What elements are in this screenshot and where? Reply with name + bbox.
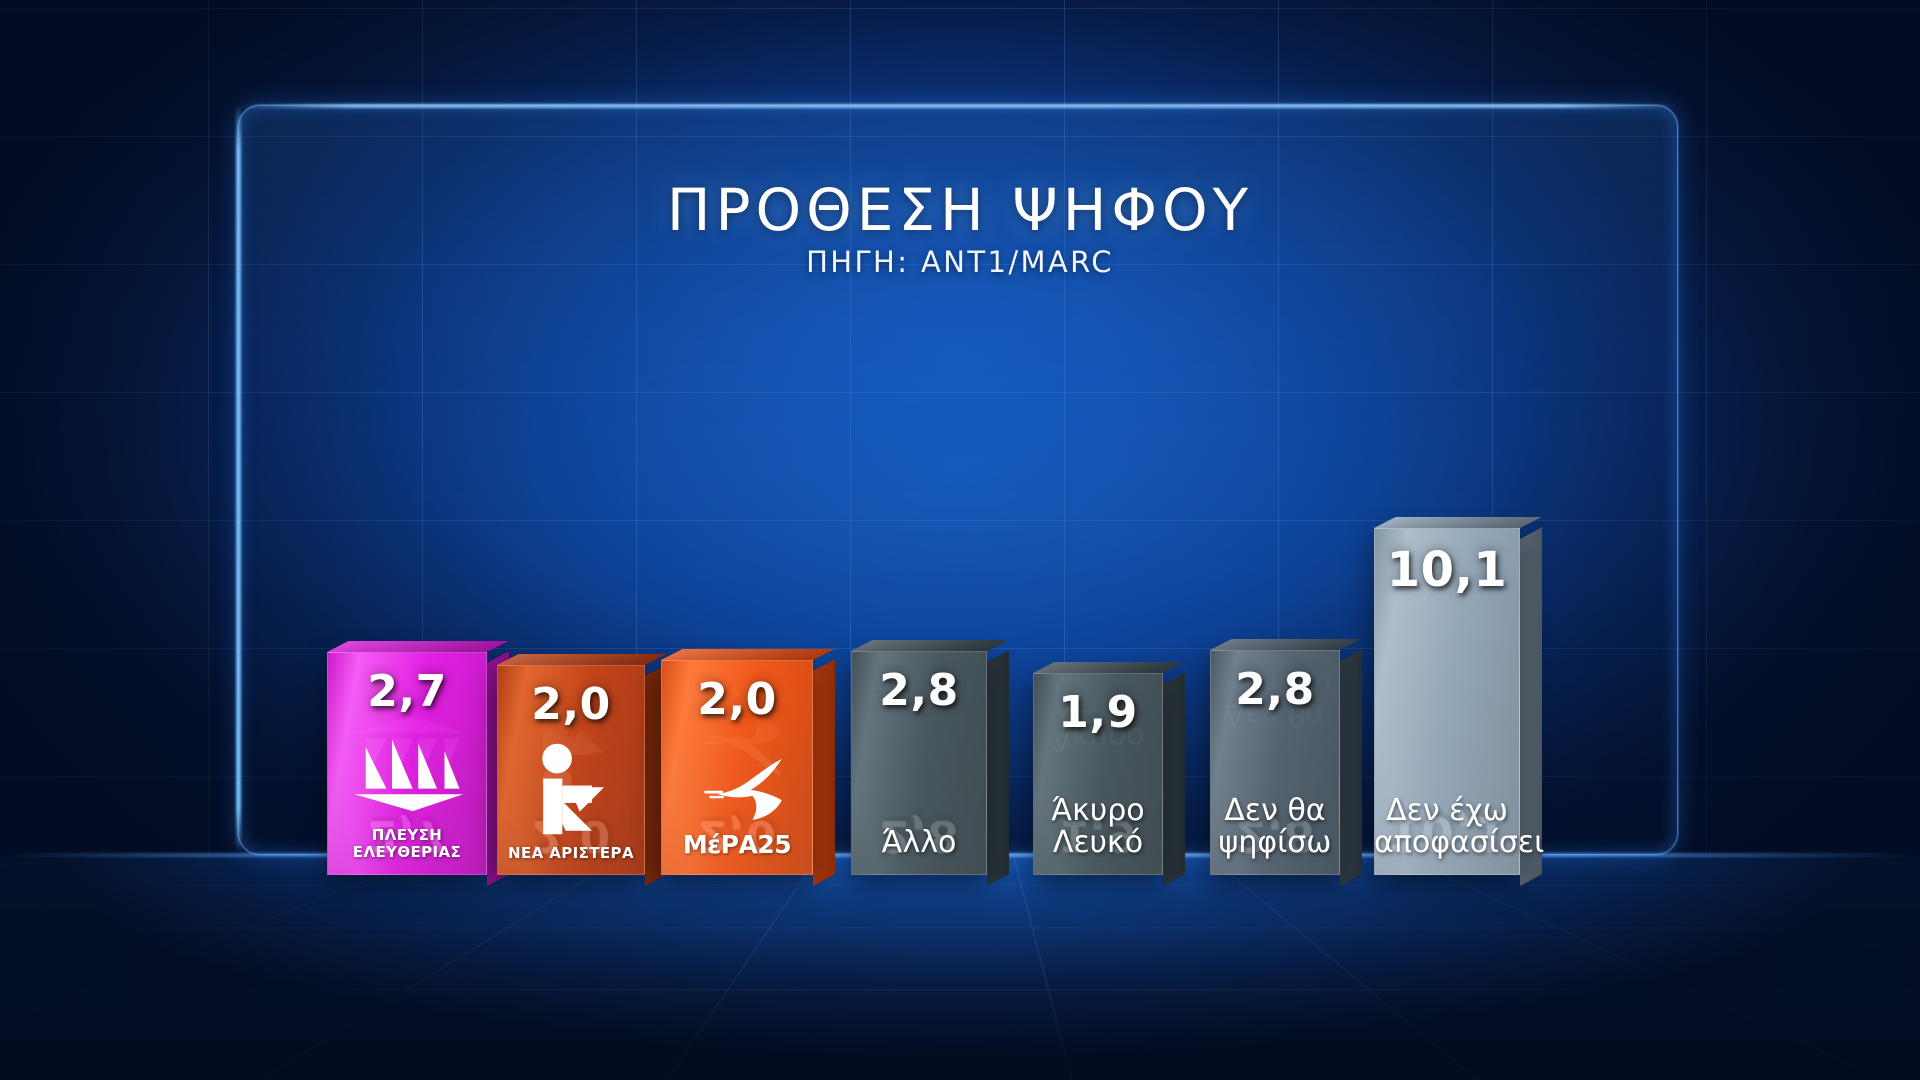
bar-body: 10,1Δεν έχωαποφασίσει [1374, 528, 1520, 875]
bar-top-face [1210, 639, 1362, 650]
bar-allo: 2,8Άλλο [851, 651, 987, 875]
bar-body: 2,8Δεν θαψηφίσω [1210, 650, 1340, 875]
bar-party-caption: ΝΕΑ ΑΡΙΣΤΕΡΑ [497, 845, 645, 862]
bar-plefsi-eleftherias: 2,7 ΠΛΕΥΣΗΕΛΕΥΘΕΡΙΑΣ [327, 652, 487, 875]
bar-body: 1,9ΆκυροΛευκό [1033, 673, 1163, 875]
bar-top-face [1374, 875, 1542, 886]
bar-top-face [661, 649, 835, 660]
bar-body: 2,0 ΜέΡΑ25 [661, 660, 813, 875]
bar-value-label: 1,9 [1033, 687, 1163, 738]
bar-side-face [813, 659, 835, 886]
running-figure-icon [531, 743, 611, 835]
bar-party-caption: ΠΛΕΥΣΗΕΛΕΥΘΕΡΙΑΣ [327, 827, 487, 862]
bar-category-label: Δεν έχωαποφασίσει [1374, 795, 1520, 859]
bar-top-face [1374, 517, 1542, 528]
bar-mera25: 2,0 ΜέΡΑ25 [661, 660, 813, 875]
bar-top-face [851, 875, 1009, 886]
bar-top-face [1033, 875, 1185, 886]
bar-body: 2,0 ΝΕΑ ΑΡΙΣΤΕΡΑ [497, 665, 645, 875]
bar-category-label: ΆκυροΛευκό [1033, 795, 1163, 859]
bar-side-face [1340, 649, 1362, 886]
bar-value-label: 2,7 [327, 666, 487, 717]
bar-top-face [497, 654, 667, 665]
bar-den-exo-apofasisei: 10,1Δεν έχωαποφασίσει [1374, 528, 1520, 875]
bar-top-face [661, 875, 835, 886]
bar-top-face [327, 641, 509, 652]
bar-body: 2,7 ΠΛΕΥΣΗΕΛΕΥΘΕΡΙΑΣ [327, 652, 487, 875]
bar-top-face [1033, 662, 1185, 673]
bar-side-face [987, 650, 1009, 886]
bar-side-face [1163, 672, 1185, 886]
bar-top-face [851, 640, 1009, 651]
bar-value-label: 2,0 [661, 674, 813, 725]
bar-den-tha-psifiso: 2,8Δεν θαψηφίσω [1210, 650, 1340, 875]
bar-nea-aristera: 2,0 ΝΕΑ ΑΡΙΣΤΕΡΑ [497, 665, 645, 875]
bar-value-label: 2,0 [497, 679, 645, 730]
swallow-bird-icon [699, 755, 799, 823]
bar-category-label: Δεν θαψηφίσω [1210, 795, 1340, 859]
bar-body: 2,8Άλλο [851, 651, 987, 875]
bar-value-label: 10,1 [1374, 542, 1520, 598]
sailing-ship-icon [347, 723, 467, 813]
bar-chart: 2,7 ΠΛΕΥΣΗΕΛΕΥΘΕΡΙΑΣ2,7 ΠΛΕΥΣΗΕΛΕΥΘΕΡΙΑΣ… [0, 0, 1920, 1080]
bar-top-face [327, 875, 509, 886]
bar-top-face [497, 875, 667, 886]
bar-top-face [1210, 875, 1362, 886]
bar-akyro-lefko: 1,9ΆκυροΛευκό [1033, 673, 1163, 875]
bar-value-label: 2,8 [1210, 664, 1340, 715]
bar-party-caption: ΜέΡΑ25 [661, 830, 813, 859]
broadcast-stage: ΠΡΟΘΕΣΗ ΨΗΦΟΥ ΠΗΓΗ: ANT1/MARC 2,7 ΠΛΕΥΣΗ… [0, 0, 1920, 1080]
bar-value-label: 2,8 [851, 665, 987, 716]
bar-category-label: Άλλο [851, 827, 987, 859]
